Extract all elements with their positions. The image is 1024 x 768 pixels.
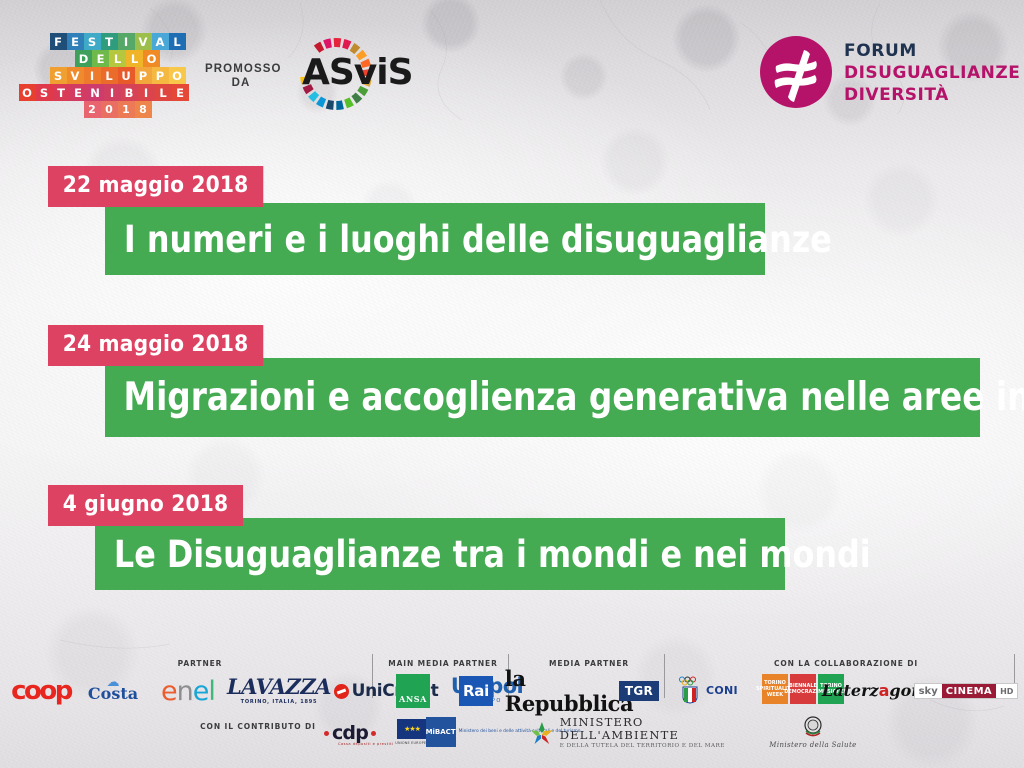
panel-2: BIENNALE DEMOCRAZIA [790,674,816,704]
asvis-wordmark: ASviS [302,53,413,93]
ministero-ambiente-logo: MINISTERO DELL'AMBIENTE E DELLA TUTELA D… [530,716,750,750]
coop-logo: coop [8,674,74,708]
forum-line-1: FORUM [844,41,1020,62]
event-date-badge: 24 maggio 2018 [48,325,263,366]
footer-divider [664,654,665,698]
unicredit-mark-icon [334,684,349,699]
festival-logo-letter: E [92,50,109,67]
tgr-logo: TGR [618,680,660,702]
festival-logo-letter: V [135,33,152,50]
festival-logo-letter: 1 [118,101,135,118]
festival-logo-letter: 2 [84,101,101,118]
festival-logo-letter: B [121,84,138,101]
festival-logo-letter: T [53,84,70,101]
cdp-logo: cdp Cassa depositi e prestiti [310,716,390,750]
cdp-dot-right [371,731,376,736]
festival-logo-letter: T [101,33,118,50]
footer-sponsors: PARTNER MAIN MEDIA PARTNER MEDIA PARTNER… [0,612,1024,768]
sky-cinema-hd-logo: sky CINEMA HD [918,680,1014,702]
coni-logo: CONI [672,670,744,710]
festival-logo-letter: U [118,67,135,84]
festival-logo-letter: P [152,67,169,84]
partner-label: PARTNER [110,659,290,668]
italian-emblem-icon [802,715,824,739]
festival-logo-letter: L [169,33,186,50]
contribution-label: CON IL CONTRIBUTO DI [193,722,323,731]
enel-logo: enel [152,674,224,708]
festival-logo-letter: 8 [135,101,152,118]
festival-logo-letter: O [19,84,36,101]
asvis-ring-segment [351,92,362,103]
festival-logo-letter: I [84,67,101,84]
ministero-salute-logo: Ministero della Salute [758,712,868,752]
festival-logo-row: 2018 [84,101,152,118]
festival-logo-letter: D [75,50,92,67]
asvis-ring-segment [344,97,354,108]
festival-logo-letter: E [70,84,87,101]
forum-line-2: DISUGUAGLIANZE [844,62,1020,84]
festival-logo-letter: L [109,50,126,67]
festival-logo-letter: F [50,33,67,50]
festival-logo-letter: L [101,67,118,84]
festival-logo-letter: S [50,67,67,84]
eu-flag-icon: ★★★ [397,719,427,739]
not-equal-icon [760,36,832,108]
asvis-ring-segment [316,96,326,107]
festival-logo-letter: L [155,84,172,101]
festival-logo-letter: A [152,33,169,50]
event-date-badge: 4 giugno 2018 [48,485,243,526]
cdp-dot-left [324,731,329,736]
main-media-partner-label: MAIN MEDIA PARTNER [388,659,498,668]
promoted-by-label: PROMOSSO DA [205,62,277,90]
festival-logo-letter: S [36,84,53,101]
festival-logo-row: OSTENIBILE [19,84,189,101]
event-title: Migrazioni e accoglienza generativa nell… [105,378,1024,417]
enel-wordmark: enel [161,678,215,705]
star-icon [530,720,554,746]
italy-shield-icon [682,686,698,704]
costa-crociere-logo: ☁ Costa [82,670,144,708]
festival-logo-letter: 0 [101,101,118,118]
event-title-bar: I numeri e i luoghi delle disuguaglianze [105,203,765,275]
la-repubblica-logo: la Repubblica [516,676,622,706]
lavazza-logo: LAVAZZA TORINO, ITALIA, 1895 [232,670,326,710]
event-title-bar: Le Disuguaglianze tra i mondi e nei mond… [95,518,785,590]
event-title-bar: Migrazioni e accoglienza generativa nell… [105,358,980,437]
festival-logo: FESTIVALDELLOSVILUPPOOSTENIBILE2018 [50,33,185,118]
event-title: Le Disuguaglianze tra i mondi e nei mond… [95,536,871,573]
festival-logo-letter: I [138,84,155,101]
forum-logo: FORUM DISUGUAGLIANZE DIVERSITÀ [760,34,1000,120]
festival-logo-letter: I [104,84,121,101]
festival-logo-row: FESTIVAL [50,33,186,50]
asvis-logo: ASviS [284,33,392,115]
rai-logo: Rai [457,675,495,707]
header: FESTIVALDELLOSVILUPPOOSTENIBILE2018 PROM… [0,0,1024,150]
festival-logo-letter: P [135,67,152,84]
festival-logo-letter: V [67,67,84,84]
collaboration-label: CON LA COLLABORAZIONE DI [726,659,966,668]
asvis-ring-segment [323,38,332,48]
forum-wordmark: FORUM DISUGUAGLIANZE DIVERSITÀ [844,41,1020,106]
asvis-ring-segment [334,38,342,47]
event-title: I numeri e i luoghi delle disuguaglianze [105,221,832,258]
festival-logo-letter: O [169,67,186,84]
slide-canvas: FESTIVALDELLOSVILUPPOOSTENIBILE2018 PROM… [0,0,1024,768]
festival-logo-letter: E [67,33,84,50]
ansa-logo: ANSA [394,673,432,709]
festival-logo-row: SVILUPPO [50,67,186,84]
olympic-rings-icon [678,676,702,686]
forum-line-3: DIVERSITÀ [844,84,1020,106]
festival-logo-row: DELLO [75,50,160,67]
festival-logo-letter: L [126,50,143,67]
festival-logo-letter: N [87,84,104,101]
festival-logo-letter: S [84,33,101,50]
event-date-badge: 22 maggio 2018 [48,166,263,207]
asvis-ring-segment [342,39,351,50]
asvis-ring-segment [326,100,334,110]
festival-logo-letter: E [172,84,189,101]
festival-logo-letter: I [118,33,135,50]
asvis-ring-segment [336,100,344,110]
festival-logo-letter: O [143,50,160,67]
